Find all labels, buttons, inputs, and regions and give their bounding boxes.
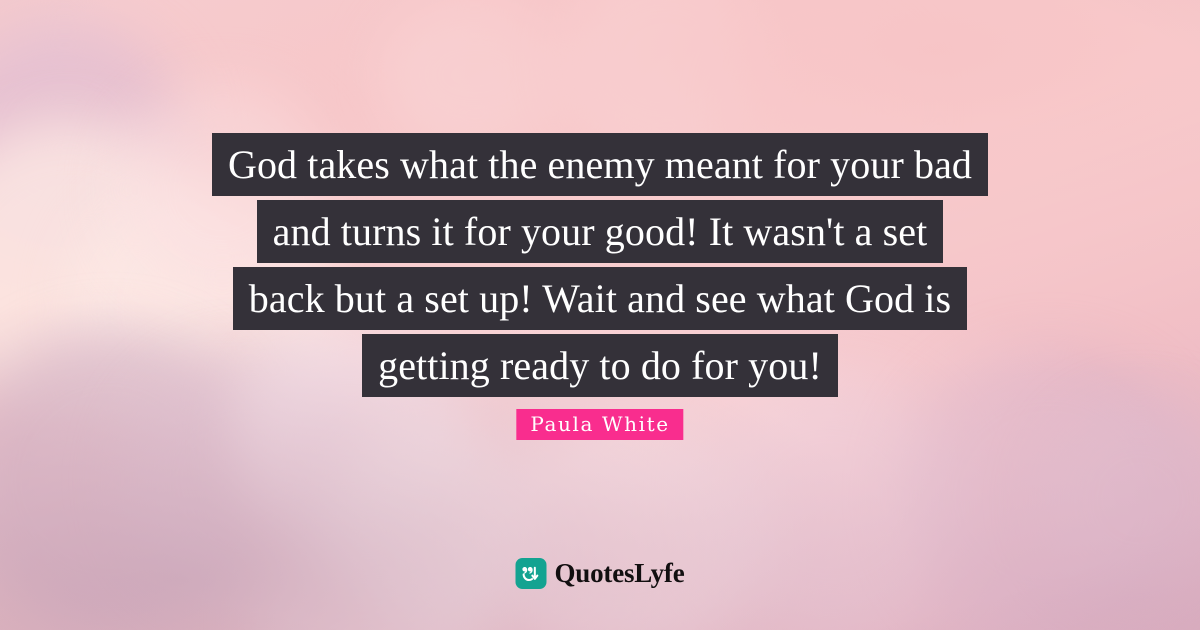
author-badge: Paula White <box>516 409 683 440</box>
quote-smiley-icon <box>516 558 547 589</box>
quote-line: and turns it for your good! It wasn't a … <box>257 200 944 263</box>
quote-card: God takes what the enemy meant for your … <box>0 0 1200 630</box>
quote-line: God takes what the enemy meant for your … <box>212 133 988 196</box>
site-logo-wordmark: QuotesLyfe <box>555 560 685 587</box>
quote-text-block: God takes what the enemy meant for your … <box>0 133 1200 401</box>
site-logo[interactable]: QuotesLyfe <box>516 558 685 589</box>
quote-line: back but a set up! Wait and see what God… <box>233 267 967 330</box>
quote-line: getting ready to do for you! <box>362 334 838 397</box>
